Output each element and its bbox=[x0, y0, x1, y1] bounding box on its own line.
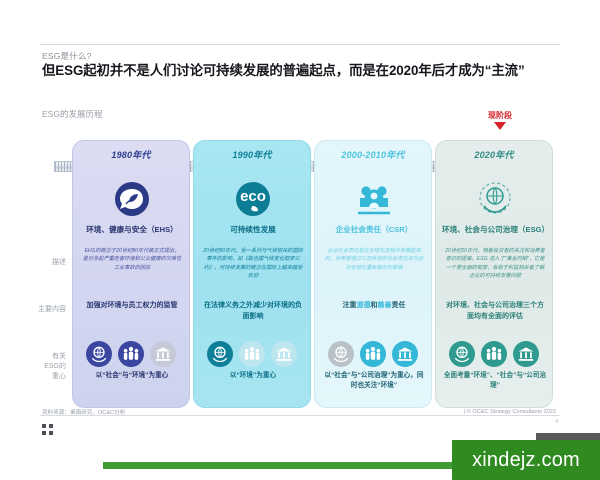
card-description: 企业社会责任是在全球化进程中发展起来的，并希望通过公司承担的社会责任来为应对全球… bbox=[324, 247, 424, 272]
focus-icon-row bbox=[73, 341, 189, 367]
globe-icon bbox=[328, 341, 354, 367]
governance-bank-icon bbox=[271, 341, 297, 367]
current-stage-marker: 现阶段 bbox=[474, 112, 526, 130]
globe-icon bbox=[449, 341, 475, 367]
card-description: 20世纪20年代，随着投资者的关注和消费者意识的提高，ESG 进入了“黄金时期”… bbox=[445, 247, 545, 281]
row-label-esg-focus: 有关 ESG的 重心 bbox=[22, 352, 66, 381]
focus-icon-row bbox=[315, 341, 431, 367]
main-content-highlight-philanthropy: 慈善 bbox=[378, 302, 392, 309]
watermark: xindejz.com bbox=[452, 440, 600, 480]
header-divider bbox=[40, 44, 560, 45]
svg-text:eco: eco bbox=[240, 188, 266, 205]
main-content-prefix: 注重 bbox=[343, 302, 357, 309]
card-title: 可持续性发展 bbox=[200, 225, 306, 235]
era-card-1990s[interactable]: 1990年代 eco 可持续性发展 20世纪90年代，受一系列与气候相关的国际事… bbox=[193, 140, 311, 408]
people-icon bbox=[360, 341, 386, 367]
era-card-2000s[interactable]: 2000-2010年代 企业社会责任（CSR） 企业社会责任是在全球化进程中发展… bbox=[314, 140, 432, 408]
row-label-description: 描述 bbox=[22, 258, 66, 268]
esg-globe-hand-icon bbox=[436, 177, 552, 221]
globe-icon bbox=[207, 341, 233, 367]
governance-bank-icon bbox=[513, 341, 539, 367]
current-stage-label: 现阶段 bbox=[474, 112, 526, 120]
globe-icon bbox=[86, 341, 112, 367]
era-label: 2000-2010年代 bbox=[315, 148, 431, 161]
source-note: 资料来源：桌面研究、OC&C分析 bbox=[42, 408, 125, 416]
era-card-2020s[interactable]: 2020年代 环境、社会与公司治理（ESG） 20世纪20年代，随着投资者的关注… bbox=[435, 140, 553, 408]
era-label: 2020年代 bbox=[436, 148, 552, 161]
page-title: 但ESG起初并不是人们讨论可持续发展的普遍起点，而是在2020年后才成为“主流” bbox=[42, 62, 558, 80]
ocandc-logo bbox=[42, 424, 55, 437]
focus-icon-row bbox=[436, 341, 552, 367]
card-main-content: 在法律义务之外减少对环境的负面影响 bbox=[202, 301, 304, 322]
card-title: 环境、健康与安全（EHS） bbox=[79, 225, 185, 235]
copyright-note: | © OC&C Strategy Consultants 2022 bbox=[464, 409, 556, 415]
main-content-suffix: 责任 bbox=[392, 302, 406, 309]
triangle-pointer-icon bbox=[494, 122, 506, 130]
card-focus-label: 以“社会”与“公司治理”为重心，同时也关注“环境” bbox=[322, 371, 426, 391]
card-title: 企业社会责任（CSR） bbox=[321, 225, 427, 235]
subtitle-text: ESG的发展历程 bbox=[42, 108, 102, 120]
card-focus-label: 以“社会”与“环境”为重心 bbox=[80, 371, 184, 381]
slide-root: ESG是什么? 但ESG起初并不是人们讨论可持续发展的普遍起点，而是在2020年… bbox=[0, 0, 600, 480]
focus-icon-row bbox=[194, 341, 310, 367]
card-focus-label: 全面考量“环境”、“社会”与“公司治理” bbox=[443, 371, 547, 391]
leaf-safety-icon bbox=[73, 177, 189, 221]
card-main-content: 加强对环境与员工权力的监管 bbox=[81, 301, 183, 312]
page-number: 4 bbox=[555, 419, 558, 425]
people-icon bbox=[118, 341, 144, 367]
governance-bank-icon bbox=[392, 341, 418, 367]
eyebrow-text: ESG是什么? bbox=[42, 50, 92, 62]
main-content-highlight-ethics: 道德 bbox=[357, 302, 371, 309]
main-content-middle: 和 bbox=[371, 302, 378, 309]
card-main-content: 注重道德和慈善责任 bbox=[323, 301, 425, 312]
era-label: 1980年代 bbox=[73, 148, 189, 161]
people-icon bbox=[239, 341, 265, 367]
csr-people-icon bbox=[315, 177, 431, 221]
people-icon bbox=[481, 341, 507, 367]
era-label: 1990年代 bbox=[194, 148, 310, 161]
era-card-1980s[interactable]: 1980年代 环境、健康与安全（EHS） EHS的概念于20世纪80年代被正式提… bbox=[72, 140, 190, 408]
row-label-main-content: 主要内容 bbox=[22, 305, 66, 315]
card-title: 环境、社会与公司治理（ESG） bbox=[442, 225, 548, 235]
card-description: EHS的概念于20世纪80年代被正式提出，是对多起严重危害环境和公众健康的灾难性… bbox=[82, 247, 182, 272]
card-focus-label: 以“环境”为重心 bbox=[201, 371, 305, 381]
card-description: 20世纪90年代，受一系列与气候相关的国际事件的影响，如《联合国气候变化框架公约… bbox=[203, 247, 303, 281]
governance-bank-icon bbox=[150, 341, 176, 367]
card-main-content: 对环境、社会与公司治理三个方面均有全面的评估 bbox=[444, 301, 546, 322]
eco-icon: eco bbox=[194, 177, 310, 221]
